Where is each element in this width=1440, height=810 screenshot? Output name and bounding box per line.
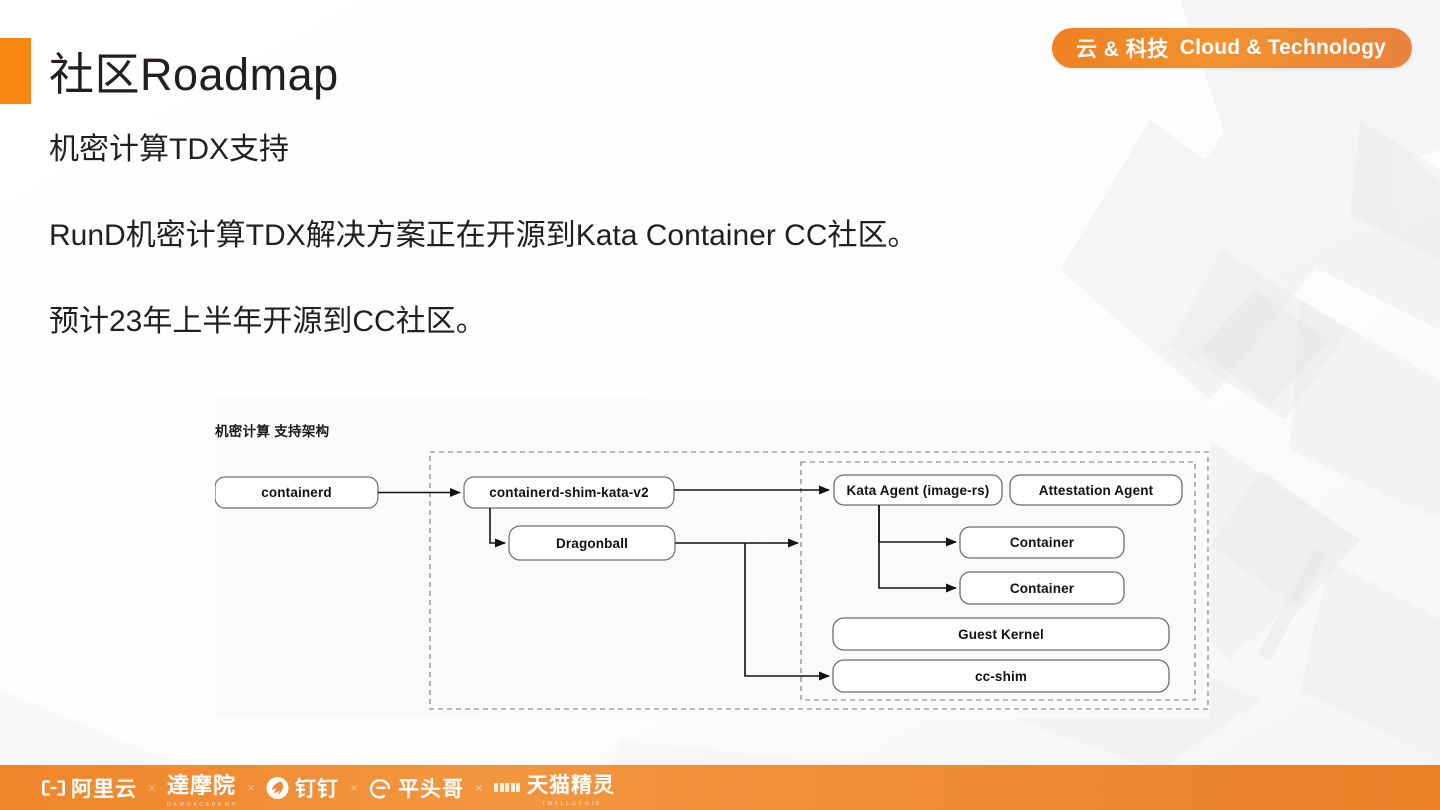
edge-kata-to-container-1 [879, 505, 956, 542]
logo-sub-tmall-genie: T M A L L G E N I E [542, 801, 600, 807]
dingtalk-icon [266, 776, 289, 799]
node-container-1 [960, 527, 1124, 558]
node-dragonball [509, 526, 675, 560]
body-line-heading: 机密计算TDX支持 [49, 131, 289, 169]
logo-label-pingtouge: 平头哥 [398, 773, 464, 803]
logo-separator: × [464, 780, 494, 795]
logo-dingtalk: 钉钉 [266, 773, 339, 803]
node-containerd [215, 477, 378, 508]
logo-separator: × [137, 780, 167, 795]
architecture-diagram: containerd containerd-shim-kata-v2 Drago… [215, 398, 1210, 718]
body-line-detail-1: RunD机密计算TDX解决方案正在开源到Kata Container CC社区。 [49, 217, 918, 255]
body-line-detail-2: 预计23年上半年开源到CC社区。 [49, 303, 486, 341]
node-guest-kernel [833, 618, 1169, 650]
brand-badge-en: Cloud & Technology [1180, 36, 1386, 60]
brand-badge: 云 & 科技 Cloud & Technology [1052, 28, 1412, 68]
node-shim [464, 477, 674, 508]
edge-shim-to-dragonball [490, 508, 505, 543]
node-cc-shim [833, 660, 1169, 692]
node-attestation [1010, 475, 1182, 505]
edge-dragonball-to-ccshim [745, 543, 829, 676]
logo-label-damo: 達摩院 [167, 768, 236, 800]
page-title: 社区Roadmap [49, 48, 339, 101]
bracket-cloud-icon [42, 776, 65, 799]
edge-kata-to-container-2 [879, 505, 956, 588]
logo-aliyun: 阿里云 [42, 773, 137, 803]
title-accent-bar [0, 38, 31, 104]
logo-damo: 達摩院 D A M O A C A D E M Y [167, 768, 236, 808]
logo-separator: × [236, 780, 266, 795]
logo-label-dingtalk: 钉钉 [295, 773, 339, 803]
logo-separator: × [339, 780, 369, 795]
diagram-title: 机密计算 支持架构 [215, 420, 329, 440]
tmall-genie-icon [494, 783, 520, 792]
brand-badge-cn: 云 & 科技 [1076, 33, 1169, 63]
diagram-canvas [215, 398, 1210, 718]
logo-label-tmall-genie: 天猫精灵 [527, 769, 615, 799]
node-kata-agent [834, 475, 1002, 505]
footer-logo-bar: 阿里云 × 達摩院 D A M O A C A D E M Y × 钉钉 × 平… [0, 765, 1440, 810]
node-container-2 [960, 572, 1124, 604]
logo-sub-damo: D A M O A C A D E M Y [167, 802, 236, 808]
logo-tmall-genie: 天猫精灵 T M A L L G E N I E [494, 769, 615, 807]
pingtouge-icon [369, 776, 392, 799]
logo-label-aliyun: 阿里云 [71, 773, 137, 803]
logo-pingtouge: 平头哥 [369, 773, 464, 803]
